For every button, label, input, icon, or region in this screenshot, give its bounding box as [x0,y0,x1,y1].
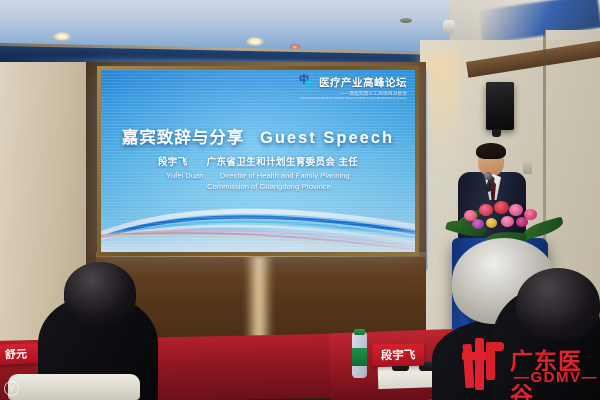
slide-speaker-title-en-line1: Director of Health and Family Planning [220,171,350,180]
ceiling-downlight [246,37,264,46]
slide-speaker-cn: 段宇飞 广东省卫生和计划生育委员会 主任 [101,154,415,168]
slide-logo-row: 中 澳 医疗产业高峰论坛 [299,77,407,90]
screenshot-root: 中 澳 医疗产业高峰论坛 ——暨医院暨义工商项目对接会 China-Austra… [0,0,600,400]
flower-bloom [494,201,509,214]
slide-title-en: Guest Speech [260,129,394,147]
water-bottle-label [352,348,367,366]
slide-speaker-name-cn: 段宇飞 [158,157,188,168]
projection-screen-frame: 中 澳 医疗产业高峰论坛 ——暨医院暨义工商项目对接会 China-Austra… [97,66,419,256]
smoke-detector-icon [443,20,455,34]
flower-bloom [479,204,493,216]
corner-badge: V [4,381,19,396]
slide-speaker-title-cn: 广东省卫生和计划生育委员会 主任 [207,157,359,168]
wall-mounted-speaker [486,82,514,130]
projection-screen[interactable]: 中 澳 医疗产业高峰论坛 ——暨医院暨义工商项目对接会 China-Austra… [101,70,415,252]
slide-logo-subtitle-en: China-Australia Medical Industry Summit … [299,97,407,100]
flower-bloom [501,216,514,227]
flower-bloom [516,217,528,227]
name-card-right: 段宇飞 [372,344,424,367]
name-card-left: 舒元 [0,343,38,365]
flower-bloom [509,204,523,216]
slide-speaker-title-en-line2: Commission of Guangdong Province [207,182,331,191]
slide-logo: 中 澳 医疗产业高峰论坛 ——暨医院暨义工商项目对接会 China-Austra… [299,77,407,100]
slide-speaker-en: Yufei Duan Director of Health and Family… [101,170,415,192]
flower-bloom [472,219,484,229]
slide-title: 嘉宾致辞与分享 Guest Speech [101,124,415,148]
speaker-person-hair [476,143,506,159]
chair-back [8,374,140,400]
ceiling-downlight [53,32,71,41]
logo-mark-secondary: 澳 [305,80,313,88]
sprinkler-icon [400,18,412,23]
microphone-head-icon [484,172,492,180]
audience-person-hair [64,262,136,324]
audience-person-hair [516,268,600,340]
water-bottle-cap [354,329,365,335]
summit-logo-icon: 中 澳 [299,77,316,90]
slide-speaker-name-en: Yufei Duan [166,171,203,180]
wall-switch-panel [523,160,532,174]
flower-bloom [486,218,497,228]
slide-title-cn: 嘉宾致辞与分享 [122,129,245,147]
slide-logo-title-cn: 医疗产业高峰论坛 [319,78,407,89]
